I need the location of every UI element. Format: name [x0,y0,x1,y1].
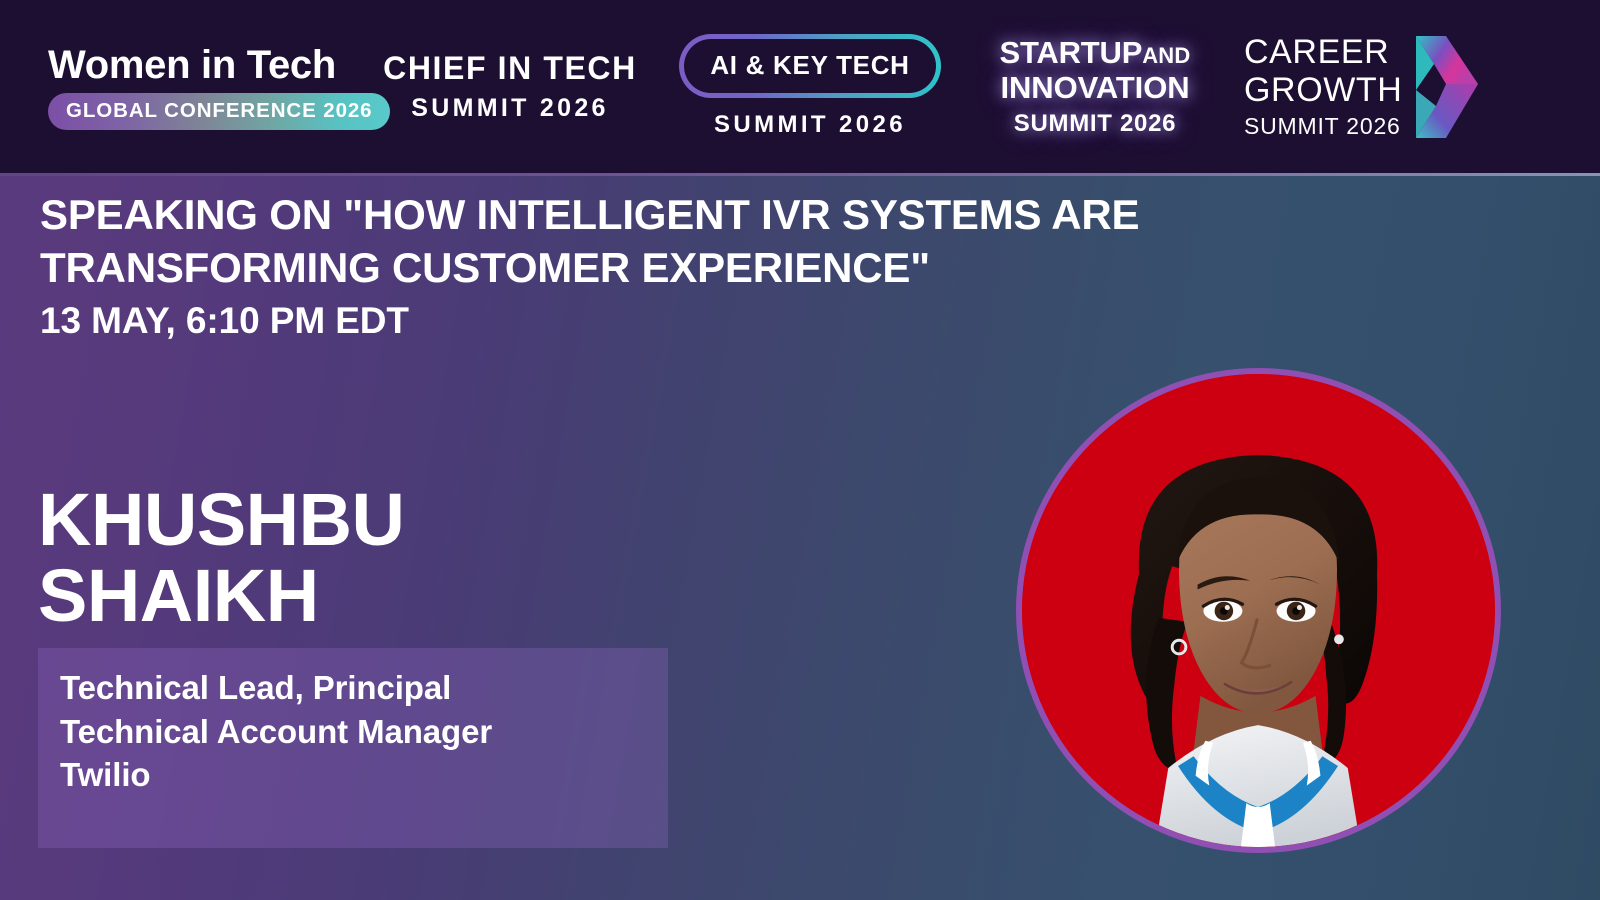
speaker-title-line1: Technical Lead, Principal [60,666,646,710]
speaker-photo [1016,368,1501,853]
speaker-title-panel: Technical Lead, Principal Technical Acco… [38,648,668,848]
startup-innovation-line2: INNOVATION [960,71,1230,106]
speaker-first-name: KHUSHBU [38,482,678,558]
career-growth-text: CAREER GROWTH SUMMIT 2026 [1244,33,1402,140]
logo-career-growth: CAREER GROWTH SUMMIT 2026 [1230,33,1600,140]
speaker-name: KHUSHBU SHAIKH [38,482,678,634]
logo-row: Women in Tech GLOBAL CONFERENCE 2026 CHI… [0,0,1600,173]
logo-startup-and-innovation: STARTUPAND INNOVATION SUMMIT 2026 [960,35,1230,138]
chevron-arrow-icon [1412,34,1478,140]
logo-chief-in-tech: CHIEF IN TECH SUMMIT 2026 [360,50,660,123]
ai-key-tech-title: AI & KEY TECH [710,50,909,81]
conference-logo-bar: Women in Tech GLOBAL CONFERENCE 2026 CHI… [0,0,1600,176]
and-word: AND [1142,43,1190,68]
speaker-company: Twilio [60,753,646,797]
speaker-title-line2: Technical Account Manager [60,710,646,754]
ai-key-tech-pill-outline: AI & KEY TECH [679,34,940,98]
career-growth-line1: CAREER [1244,33,1402,71]
logo-ai-and-key-tech: AI & KEY TECH SUMMIT 2026 [660,34,960,139]
ai-key-tech-pill-inner: AI & KEY TECH [684,39,935,93]
career-growth-subtitle: SUMMIT 2026 [1244,113,1402,140]
session-datetime: 13 MAY, 6:10 PM EDT [40,300,409,342]
startup-innovation-line1: STARTUPAND [960,35,1230,71]
career-growth-line2: GROWTH [1244,71,1402,109]
speaker-last-name: SHAIKH [38,558,678,634]
startup-innovation-subtitle: SUMMIT 2026 [960,110,1230,138]
portrait-illustration [1022,374,1495,847]
women-in-tech-title: Women in Tech [48,44,360,86]
startup-word: STARTUP [1000,35,1143,70]
women-in-tech-badge: GLOBAL CONFERENCE 2026 [48,93,390,130]
speaker-announcement-graphic: Women in Tech GLOBAL CONFERENCE 2026 CHI… [0,0,1600,900]
session-headline: SPEAKING ON "HOW INTELLIGENT IVR SYSTEMS… [40,189,1310,295]
logo-women-in-tech: Women in Tech GLOBAL CONFERENCE 2026 [0,44,360,130]
chief-in-tech-subtitle: SUMMIT 2026 [360,94,660,123]
ai-key-tech-subtitle: SUMMIT 2026 [660,111,960,139]
chief-in-tech-title: CHIEF IN TECH [360,50,660,87]
